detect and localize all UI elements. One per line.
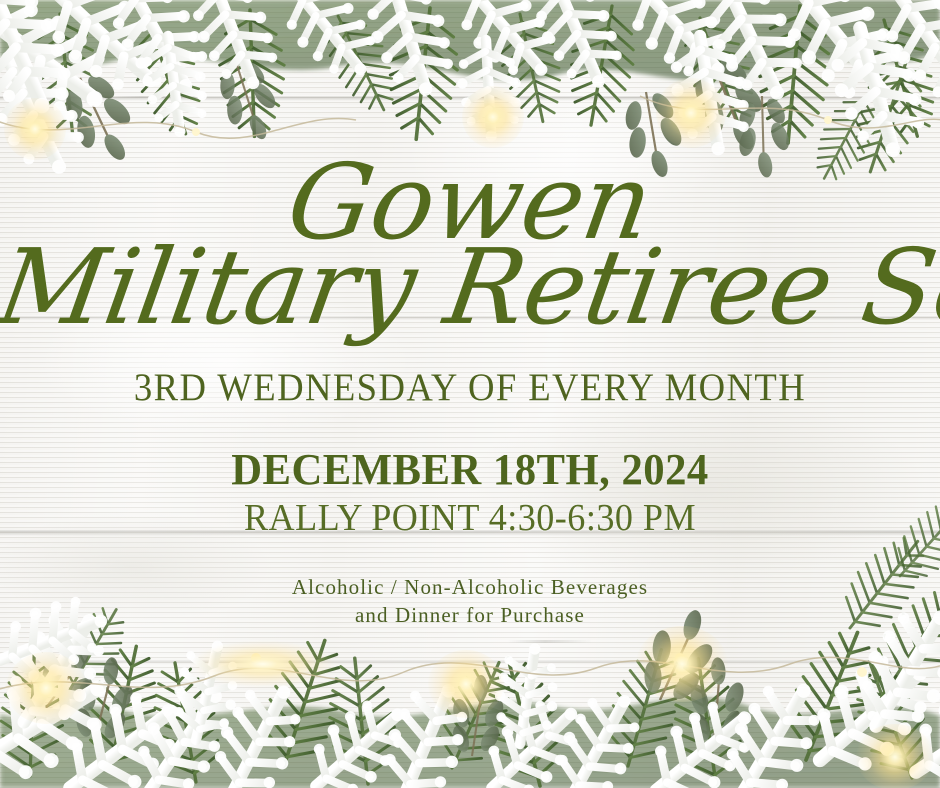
event-recurrence: 3RD WEDNESDAY OF EVERY MONTH [28, 365, 912, 410]
event-venue-time: RALLY POINT 4:30-6:30 PM [24, 496, 917, 540]
holiday-event-flyer: Gowen Military Retiree Social 3RD WEDNES… [0, 0, 940, 788]
event-title-line-2: Military Retiree Social [0, 235, 940, 339]
event-note-line-1: Alcoholic / Non-Alcoholic Beverages [0, 574, 940, 602]
event-note: Alcoholic / Non-Alcoholic Beverages and … [0, 574, 940, 629]
event-date: DECEMBER 18TH, 2024 [14, 444, 926, 495]
event-note-line-2: and Dinner for Purchase [0, 602, 940, 630]
flyer-text-content: Gowen Military Retiree Social 3RD WEDNES… [0, 0, 940, 788]
